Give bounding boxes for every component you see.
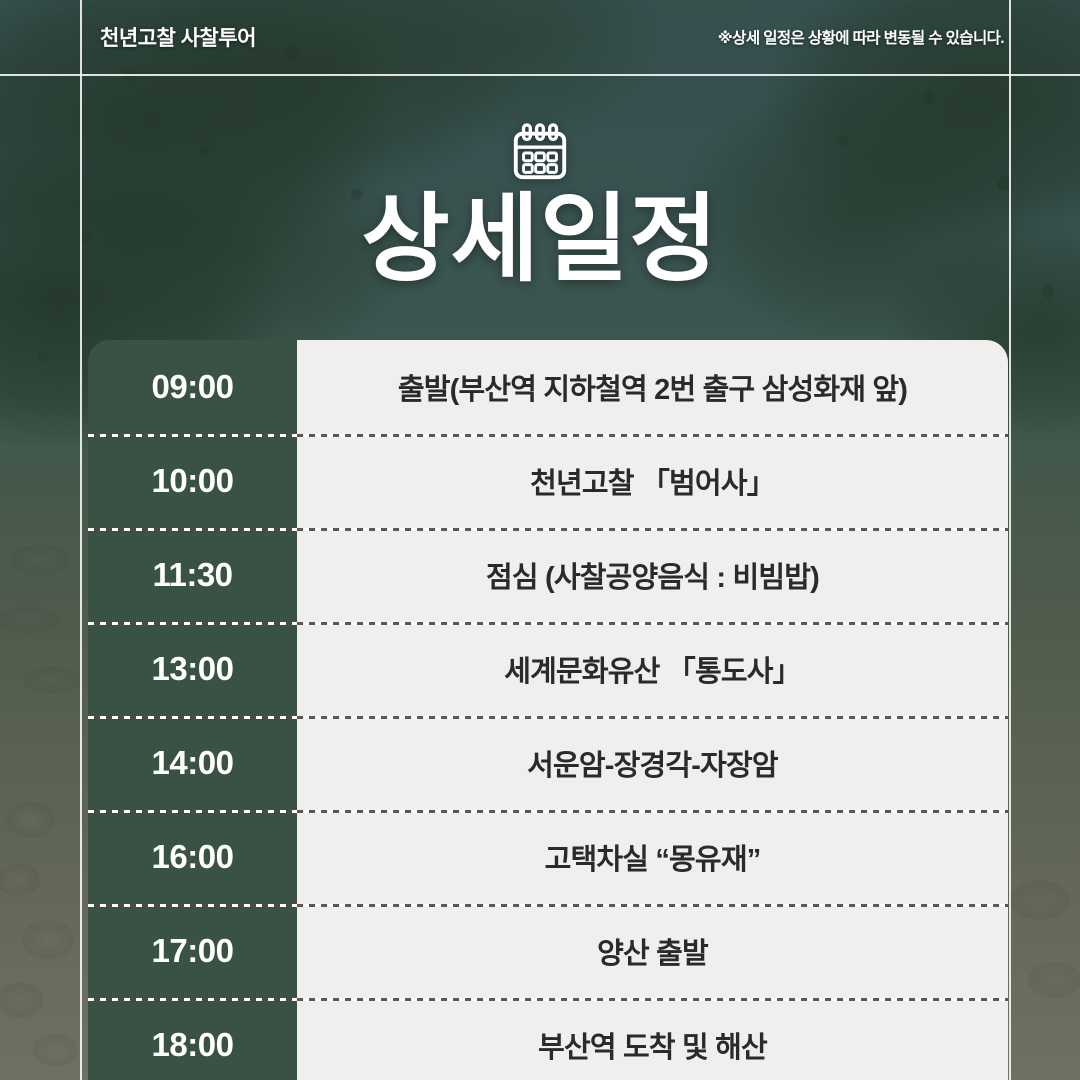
schedule-description: 양산 출발 (297, 904, 1008, 998)
schedule-row: 18:00부산역 도착 및 해산 (88, 998, 1008, 1080)
header-bar: 천년고찰 사찰투어 ※상세 일정은 상황에 따라 변동될 수 있습니다. (0, 0, 1080, 74)
schedule-row: 17:00양산 출발 (88, 904, 1008, 998)
schedule-description: 점심 (사찰공양음식 : 비빔밥) (297, 528, 1008, 622)
brand-title: 천년고찰 사찰투어 (100, 0, 256, 74)
schedule-row: 10:00천년고찰 「범어사」 (88, 434, 1008, 528)
schedule-description: 서운암-장경각-자장암 (297, 716, 1008, 810)
schedule-time: 16:00 (88, 810, 297, 904)
calendar-icon (509, 122, 571, 184)
schedule-description: 고택차실 “몽유재” (297, 810, 1008, 904)
schedule-time: 10:00 (88, 434, 297, 528)
schedule-time: 14:00 (88, 716, 297, 810)
schedule-table: 09:00출발(부산역 지하철역 2번 출구 삼성화재 앞)10:00천년고찰 … (88, 340, 1008, 1080)
page-title: 상세일정 (361, 190, 718, 291)
hero-section: 상세일정 (0, 74, 1080, 340)
schedule-time: 18:00 (88, 998, 297, 1080)
schedule-row: 09:00출발(부산역 지하철역 2번 출구 삼성화재 앞) (88, 340, 1008, 434)
schedule-time: 09:00 (88, 340, 297, 434)
poster-canvas: 천년고찰 사찰투어 ※상세 일정은 상황에 따라 변동될 수 있습니다. 상세일… (0, 0, 1080, 1080)
disclaimer-note: ※상세 일정은 상황에 따라 변동될 수 있습니다. (718, 0, 1004, 74)
schedule-description: 부산역 도착 및 해산 (297, 998, 1008, 1080)
schedule-description: 출발(부산역 지하철역 2번 출구 삼성화재 앞) (297, 340, 1008, 434)
schedule-time: 11:30 (88, 528, 297, 622)
schedule-description: 세계문화유산 「통도사」 (297, 622, 1008, 716)
schedule-row: 14:00서운암-장경각-자장암 (88, 716, 1008, 810)
schedule-time: 13:00 (88, 622, 297, 716)
schedule-row: 16:00고택차실 “몽유재” (88, 810, 1008, 904)
schedule-row: 11:30점심 (사찰공양음식 : 비빔밥) (88, 528, 1008, 622)
schedule-description: 천년고찰 「범어사」 (297, 434, 1008, 528)
schedule-time: 17:00 (88, 904, 297, 998)
schedule-row: 13:00세계문화유산 「통도사」 (88, 622, 1008, 716)
